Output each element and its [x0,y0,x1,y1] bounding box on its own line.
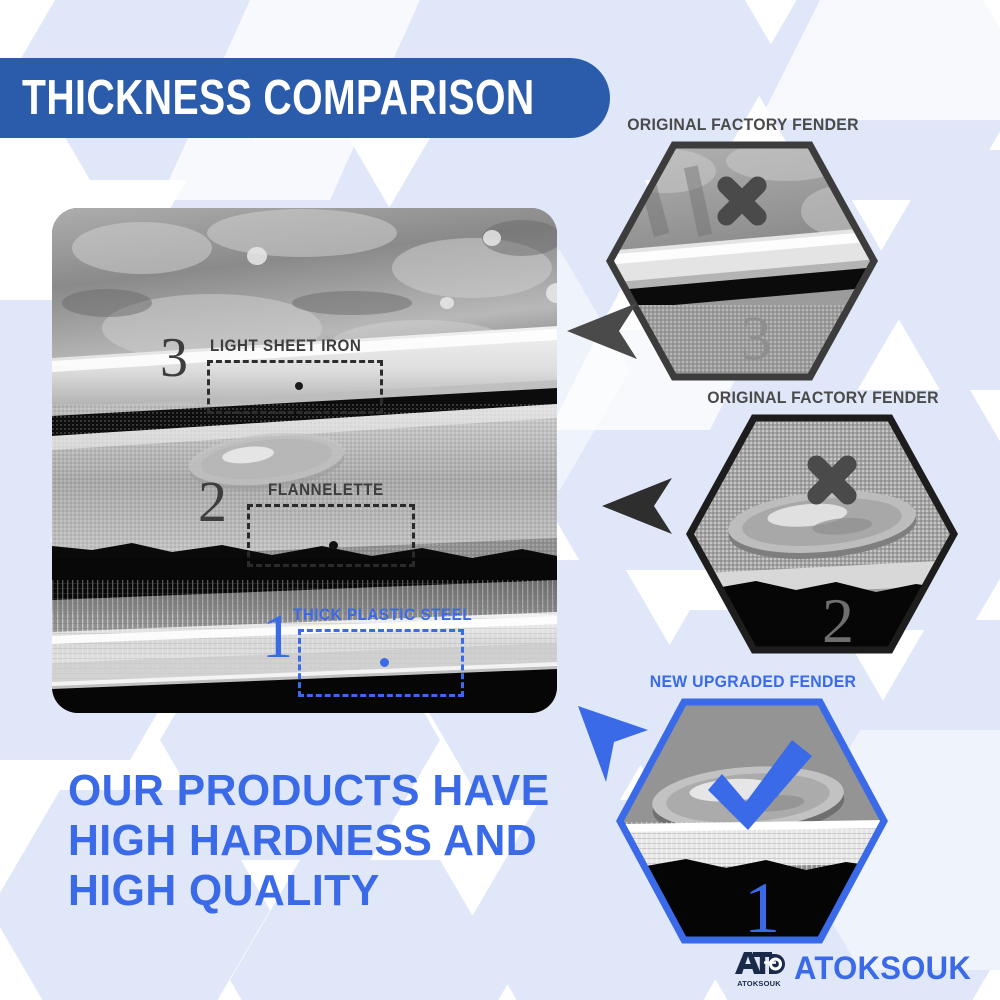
annotation-dot-1 [380,658,389,667]
hex-card-3-number: 1 [744,868,780,944]
brand-mark-icon: ATOKSOUK [733,948,785,988]
annotation-label-flannelette: FLANNELETTE [268,481,384,500]
hex-card-1-number: 3 [741,305,772,373]
brand-logo: ATOKSOUK ATOKSOUK [733,948,977,988]
slogan-block: OUR PRODUCTS HAVE HIGH HARDNESS AND HIGH… [68,766,565,916]
hex-card-3-title: NEW UPGRADED FENDER [618,672,888,692]
arrow-to-hex-2 [600,470,680,540]
hex-card-2-number: 2 [822,585,854,654]
annotation-label-light-sheet-iron: LIGHT SHEET IRON [210,337,361,356]
brand-mark-subtext: ATOKSOUK [733,979,785,988]
annotation-number-2: 2 [198,473,227,531]
annotation-dot-3 [295,382,303,390]
annotation-label-thick-plastic-steel: THICK PLASTIC STEEL [293,606,472,625]
main-cross-section-photo: 3 LIGHT SHEET IRON 2 FLANNELETTE 1 THICK… [52,208,557,713]
infographic-canvas: THICKNESS COMPARISON [0,0,1000,1000]
slogan-line-2: HIGH HARDNESS AND [68,816,550,866]
brand-wordmark: ATOKSOUK [794,950,971,987]
page-title: THICKNESS COMPARISON [22,70,535,126]
hex-card-1-title: ORIGINAL FACTORY FENDER [608,115,878,135]
hex-card-original-factory-fender-2: ORIGINAL FACTORY FENDER [678,388,968,643]
arrow-to-hex-1 [565,295,645,365]
title-banner: THICKNESS COMPARISON [0,58,610,138]
slogan-line-1: OUR PRODUCTS HAVE [68,766,550,816]
arrow-to-hex-3 [570,700,660,790]
annotation-box-2 [247,504,415,567]
annotation-number-1: 1 [262,606,293,668]
hex-card-2-title: ORIGINAL FACTORY FENDER [688,388,958,408]
hex-card-2-photo: 2 [686,414,958,654]
slogan-line-3: HIGH QUALITY [68,866,550,916]
annotation-dot-2 [329,541,338,550]
annotation-number-3: 3 [160,330,188,386]
hex-card-1-photo: 3 [606,141,878,381]
